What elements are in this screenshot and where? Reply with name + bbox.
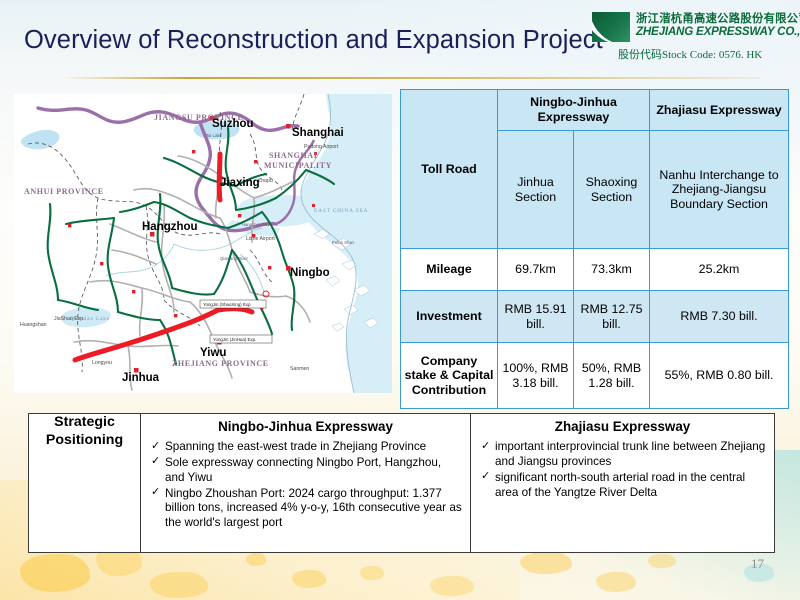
strategic-heading-ningbo-jinhua: Ningbo-Jinhua Expressway: [141, 414, 470, 436]
highway-callout-ningbo-shaoxing: YongJin (ShaoXing) Exp.: [200, 300, 266, 308]
list-item-text: Ningbo Zhoushan Port: 2024 cargo through…: [165, 487, 462, 530]
expressway-swoosh-icon: [592, 12, 630, 42]
company-logo: 浙江湝杭甬高速公路股份有限公司 ZHEJIANG EXPRESSWAY CO.,…: [592, 10, 792, 72]
splatter-blob: [520, 552, 572, 574]
highway-callout-ningbo-jinhua: YongJin (JinHua) Exp.: [210, 335, 272, 343]
svg-text:ANHUI PROVINCE: ANHUI PROVINCE: [24, 187, 104, 196]
svg-text:ZHEJIANG PROVINCE: ZHEJIANG PROVINCE: [172, 359, 269, 368]
svg-text:EAST CHINA SEA: EAST CHINA SEA: [314, 208, 368, 214]
toll-road-comparison-table: Toll Road Ningbo-Jinhua Expressway Zhaji…: [400, 89, 788, 409]
cell-stake-shaoxing: 50%, RMB 1.28 bill.: [574, 343, 650, 409]
strategic-column-ningbo-jinhua: Ningbo-Jinhua Expressway ✓Spanning the e…: [141, 414, 471, 553]
splatter-blob: [292, 570, 326, 588]
title-divider-rule: [60, 77, 760, 79]
svg-text:Hangzhou Bay: Hangzhou Bay: [242, 222, 270, 227]
svg-text:Ningbo: Ningbo: [290, 267, 330, 279]
header-nanhu-section: Nanhu Interchange to Zhejiang-Jiangsu Bo…: [650, 131, 789, 249]
list-item: ✓Ningbo Zhoushan Port: 2024 cargo throug…: [151, 487, 462, 532]
logo-stock-code: 股份代码Stock Code: 0576. HK: [618, 46, 762, 62]
svg-text:JiaShao Exp.: JiaShao Exp.: [54, 316, 85, 322]
svg-text:Sanmen: Sanmen: [290, 366, 309, 372]
svg-text:Huangshan: Huangshan: [20, 322, 47, 328]
svg-text:Pudong Airport: Pudong Airport: [304, 144, 339, 150]
splatter-blob: [150, 572, 208, 598]
check-icon: ✓: [151, 486, 160, 500]
cell-mileage-shaoxing: 73.3km: [574, 249, 650, 291]
zhejiang-expressway-network-map: YongJin (ShaoXing) Exp. YongJin (JinHua)…: [14, 94, 392, 393]
svg-text:Putuo Shan: Putuo Shan: [332, 240, 355, 245]
table-row: Investment RMB 15.91 bill. RMB 12.75 bil…: [401, 291, 789, 343]
row-label-company-stake: Company stake & Capital Contribution: [401, 343, 498, 409]
list-item: ✓ significant north-south arterial road …: [481, 471, 766, 501]
splatter-blob: [246, 553, 266, 566]
list-item-text: Spanning the east-west trade in Zhejiang…: [165, 440, 426, 453]
cell-investment-nanhu: RMB 7.30 bill.: [650, 291, 789, 343]
table-header-row-1: Toll Road Ningbo-Jinhua Expressway Zhaji…: [401, 90, 789, 131]
svg-text:Zhapu: Zhapu: [258, 178, 273, 184]
header-shaoxing-section: Shaoxing Section: [574, 131, 650, 249]
check-icon: ✓: [151, 440, 160, 454]
cell-investment-jinhua: RMB 15.91 bill.: [498, 291, 574, 343]
logo-company-name-cn: 浙江湝杭甬高速公路股份有限公司: [636, 10, 800, 26]
header-ningbo-jinhua: Ningbo-Jinhua Expressway: [498, 90, 650, 131]
strategic-bullet-list: ✓important interprovincial trunk line be…: [471, 440, 774, 500]
slide-canvas: Overview of Reconstruction and Expansion…: [0, 0, 800, 600]
strategic-positioning-label: Strategic Positioning: [29, 414, 141, 553]
list-item-text: important interprovincial trunk line bet…: [495, 440, 765, 468]
row-label-investment: Investment: [401, 291, 498, 343]
splatter-blob: [20, 554, 90, 592]
svg-text:SHANGHAI: SHANGHAI: [269, 151, 317, 160]
svg-text:Qiantang River: Qiantang River: [220, 256, 249, 261]
row-label-mileage: Mileage: [401, 249, 498, 291]
splatter-blob: [596, 572, 636, 592]
strategic-positioning-panel: Strategic Positioning Ningbo-Jinhua Expr…: [28, 413, 774, 553]
list-item: ✓Sole expressway connecting Ningbo Port,…: [151, 456, 462, 486]
page-number: 17: [751, 556, 764, 572]
header-toll-road: Toll Road: [401, 90, 498, 249]
splatter-blob: [648, 554, 676, 568]
svg-text:Suzhou: Suzhou: [212, 118, 254, 130]
strategic-column-zhajiasu: Zhajiasu Expressway ✓important interprov…: [471, 414, 775, 553]
header-zhajiasu: Zhajiasu Expressway: [650, 90, 789, 131]
strategic-bullet-list: ✓Spanning the east-west trade in Zhejian…: [141, 440, 470, 531]
list-item-text: Sole expressway connecting Ningbo Port, …: [165, 456, 441, 484]
check-icon: ✓: [481, 470, 490, 484]
header-jinhua-section: Jinhua Section: [498, 131, 574, 249]
svg-text:Longyou: Longyou: [92, 360, 112, 366]
cell-mileage-nanhu: 25.2km: [650, 249, 789, 291]
list-item-text: significant north-south arterial road in…: [495, 471, 745, 499]
check-icon: ✓: [481, 440, 490, 454]
check-icon: ✓: [151, 455, 160, 469]
svg-text:MUNICIPALITY: MUNICIPALITY: [264, 161, 332, 170]
cell-stake-jinhua: 100%, RMB 3.18 bill.: [498, 343, 574, 409]
table-row: Mileage 69.7km 73.3km 25.2km: [401, 249, 789, 291]
splatter-blob: [360, 566, 384, 580]
svg-text:YongJin (JinHua) Exp.: YongJin (JinHua) Exp.: [213, 337, 256, 342]
svg-text:Tai Lake: Tai Lake: [206, 133, 222, 138]
svg-text:Lishe Airport: Lishe Airport: [246, 236, 275, 242]
cell-mileage-jinhua: 69.7km: [498, 249, 574, 291]
table-row: Company stake & Capital Contribution 100…: [401, 343, 789, 409]
svg-text:Shanghai: Shanghai: [292, 127, 344, 139]
svg-text:Hangzhou: Hangzhou: [142, 221, 198, 233]
list-item: ✓important interprovincial trunk line be…: [481, 440, 766, 470]
cell-stake-nanhu: 55%, RMB 0.80 bill.: [650, 343, 789, 409]
svg-text:YongJin (ShaoXing) Exp.: YongJin (ShaoXing) Exp.: [203, 302, 252, 307]
page-title: Overview of Reconstruction and Expansion…: [24, 26, 603, 55]
svg-text:Jinhua: Jinhua: [122, 372, 160, 384]
cell-investment-shaoxing: RMB 12.75 bill.: [574, 291, 650, 343]
svg-text:Yiwu: Yiwu: [200, 347, 226, 359]
splatter-blob: [430, 576, 474, 596]
svg-text:Jiaxing: Jiaxing: [220, 177, 260, 189]
list-item: ✓Spanning the east-west trade in Zhejian…: [151, 440, 462, 455]
logo-company-name-en: ZHEJIANG EXPRESSWAY CO., LTD.: [636, 25, 800, 38]
strategic-heading-zhajiasu: Zhajiasu Expressway: [471, 414, 774, 436]
